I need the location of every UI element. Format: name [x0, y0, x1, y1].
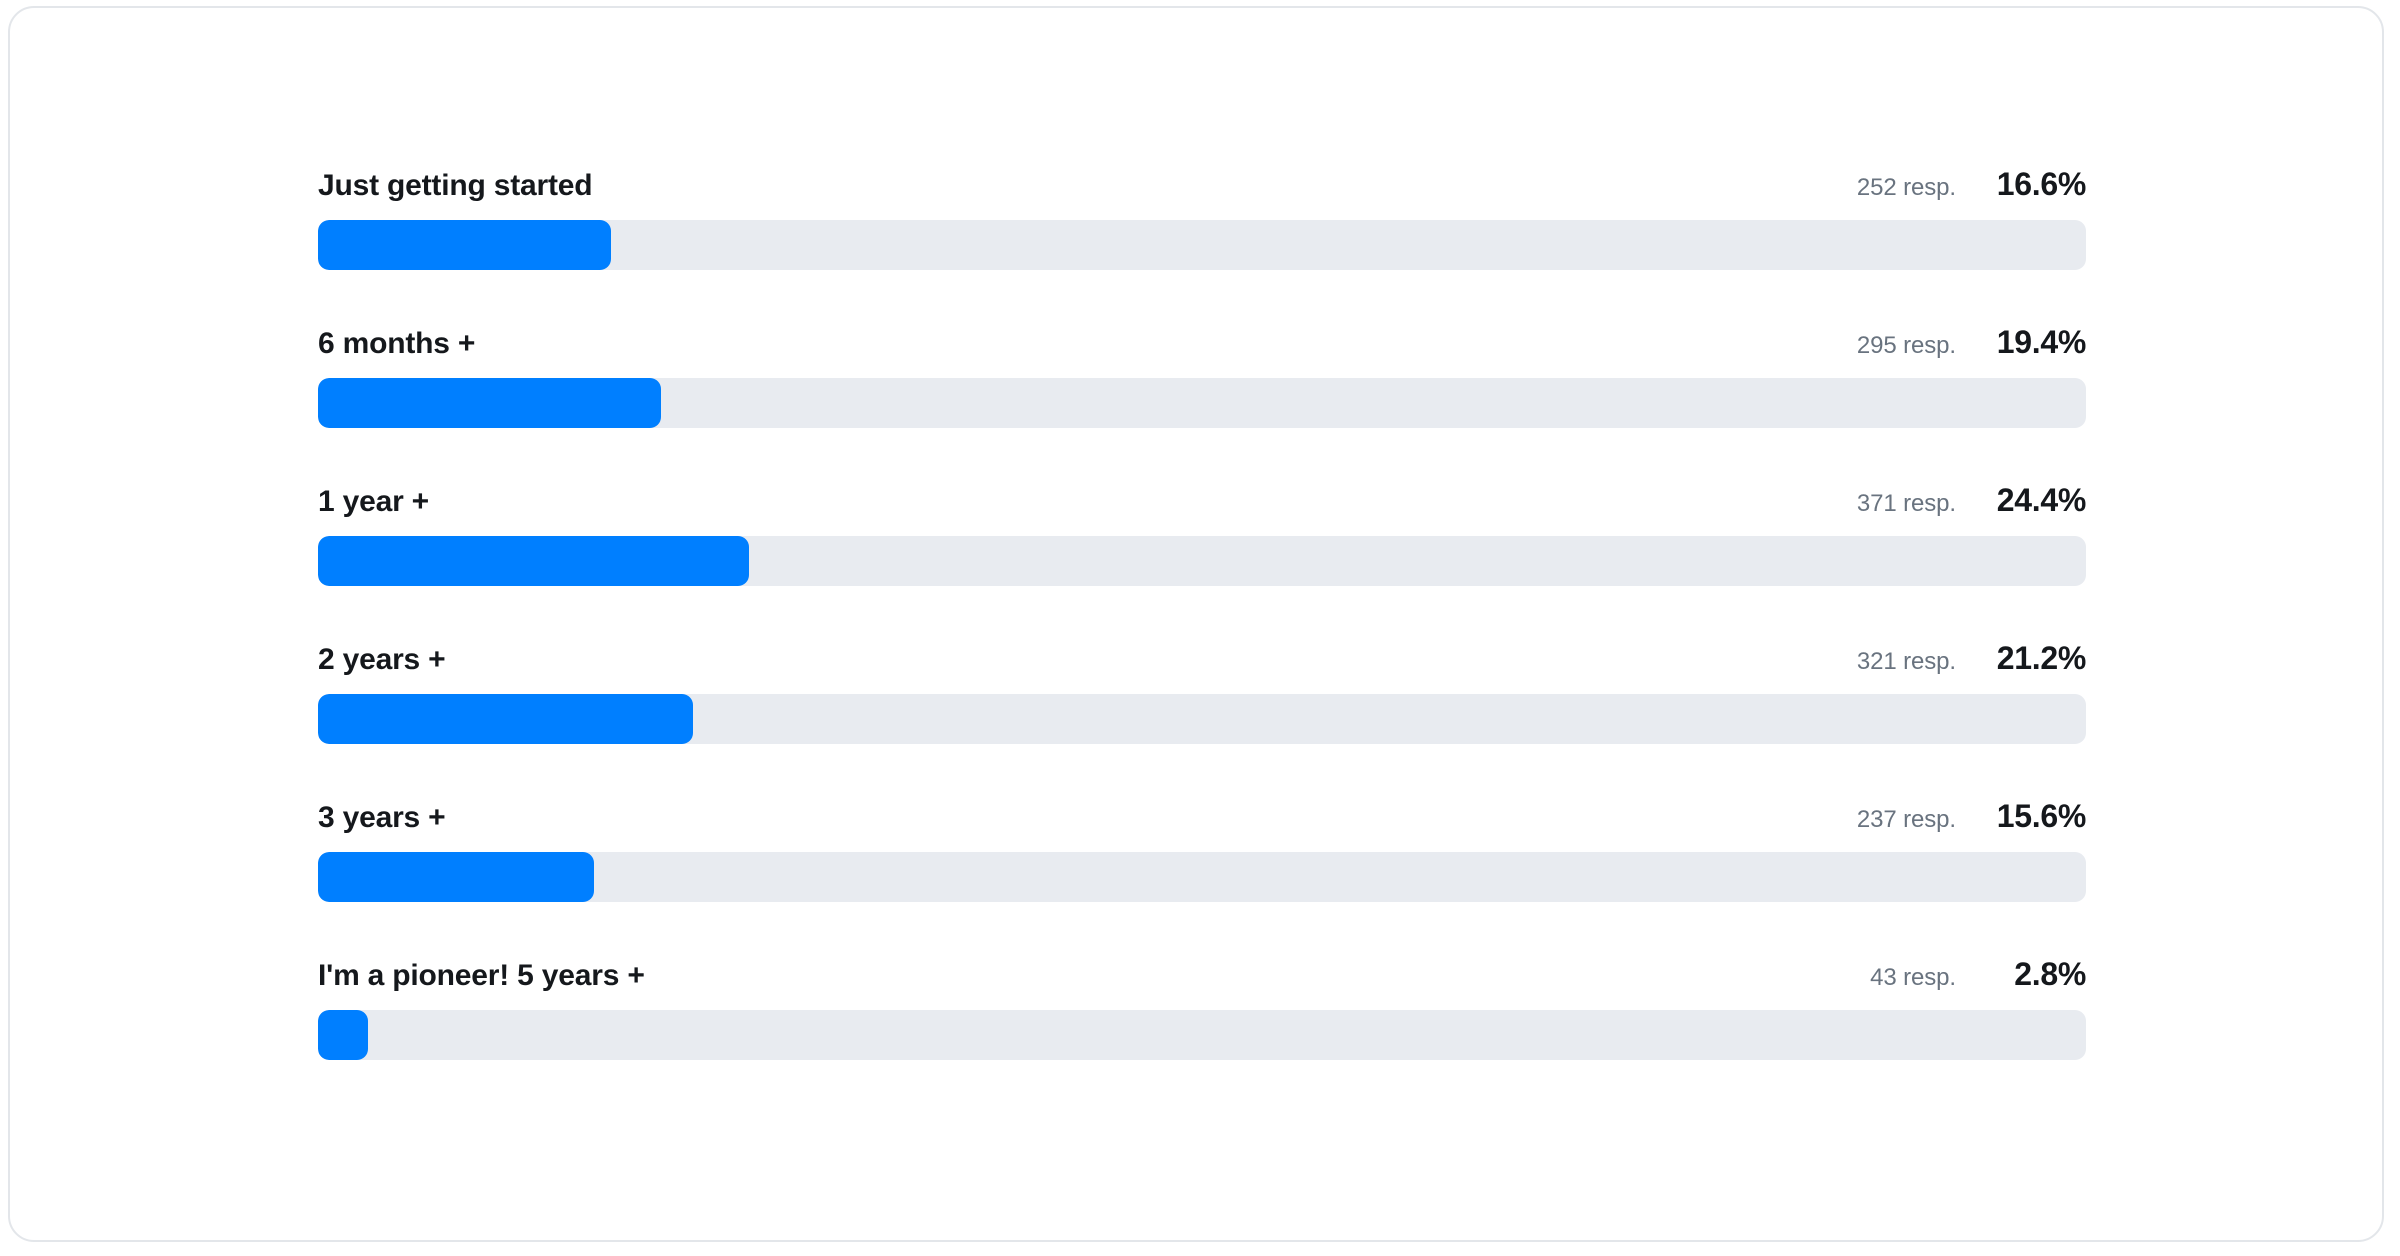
results-card: Just getting started 252 resp. 16.6% 6 m…: [8, 6, 2384, 1242]
chart-row-percentage: 2.8%: [1978, 958, 2086, 990]
chart-row-response-count: 295 resp.: [1857, 334, 1956, 358]
chart-row-track: [318, 220, 2086, 270]
horizontal-bar-chart: Just getting started 252 resp. 16.6% 6 m…: [318, 168, 2086, 1060]
chart-row-header: 1 year + 371 resp. 24.4%: [318, 484, 2086, 517]
chart-row-stats: 321 resp. 21.2%: [1857, 642, 2086, 674]
chart-row[interactable]: 2 years + 321 resp. 21.2%: [318, 642, 2086, 744]
chart-row-bar: [318, 852, 594, 902]
chart-row-label: I'm a pioneer! 5 years +: [318, 961, 645, 991]
chart-row-percentage: 21.2%: [1978, 642, 2086, 674]
chart-row-track: [318, 1010, 2086, 1060]
chart-row-stats: 371 resp. 24.4%: [1857, 484, 2086, 516]
chart-row-track: [318, 536, 2086, 586]
chart-row-percentage: 24.4%: [1978, 484, 2086, 516]
chart-row-label: 3 years +: [318, 803, 446, 833]
chart-row-bar: [318, 1010, 368, 1060]
chart-row-bar: [318, 536, 749, 586]
chart-row-bar: [318, 378, 661, 428]
chart-row-header: I'm a pioneer! 5 years + 43 resp. 2.8%: [318, 958, 2086, 991]
chart-row-label: 2 years +: [318, 645, 446, 675]
chart-row-header: Just getting started 252 resp. 16.6%: [318, 168, 2086, 201]
chart-row-header: 3 years + 237 resp. 15.6%: [318, 800, 2086, 833]
chart-row-percentage: 19.4%: [1978, 326, 2086, 358]
chart-row-label: Just getting started: [318, 171, 592, 201]
chart-row-label: 6 months +: [318, 329, 475, 359]
chart-row-track: [318, 852, 2086, 902]
chart-row-stats: 252 resp. 16.6%: [1857, 168, 2086, 200]
chart-row[interactable]: 6 months + 295 resp. 19.4%: [318, 326, 2086, 428]
chart-row[interactable]: I'm a pioneer! 5 years + 43 resp. 2.8%: [318, 958, 2086, 1060]
chart-row-header: 2 years + 321 resp. 21.2%: [318, 642, 2086, 675]
chart-row[interactable]: 1 year + 371 resp. 24.4%: [318, 484, 2086, 586]
chart-row-response-count: 237 resp.: [1857, 808, 1956, 832]
chart-row-label: 1 year +: [318, 487, 429, 517]
chart-row-stats: 295 resp. 19.4%: [1857, 326, 2086, 358]
chart-row-track: [318, 694, 2086, 744]
chart-row-stats: 237 resp. 15.6%: [1857, 800, 2086, 832]
chart-row[interactable]: Just getting started 252 resp. 16.6%: [318, 168, 2086, 270]
chart-row-response-count: 43 resp.: [1870, 966, 1956, 990]
chart-row-header: 6 months + 295 resp. 19.4%: [318, 326, 2086, 359]
chart-row-percentage: 15.6%: [1978, 800, 2086, 832]
chart-row-bar: [318, 694, 693, 744]
chart-row-response-count: 371 resp.: [1857, 492, 1956, 516]
chart-row-response-count: 321 resp.: [1857, 650, 1956, 674]
chart-row-bar: [318, 220, 611, 270]
chart-row-stats: 43 resp. 2.8%: [1870, 958, 2086, 990]
chart-row-percentage: 16.6%: [1978, 168, 2086, 200]
chart-row-response-count: 252 resp.: [1857, 176, 1956, 200]
chart-row[interactable]: 3 years + 237 resp. 15.6%: [318, 800, 2086, 902]
chart-row-track: [318, 378, 2086, 428]
